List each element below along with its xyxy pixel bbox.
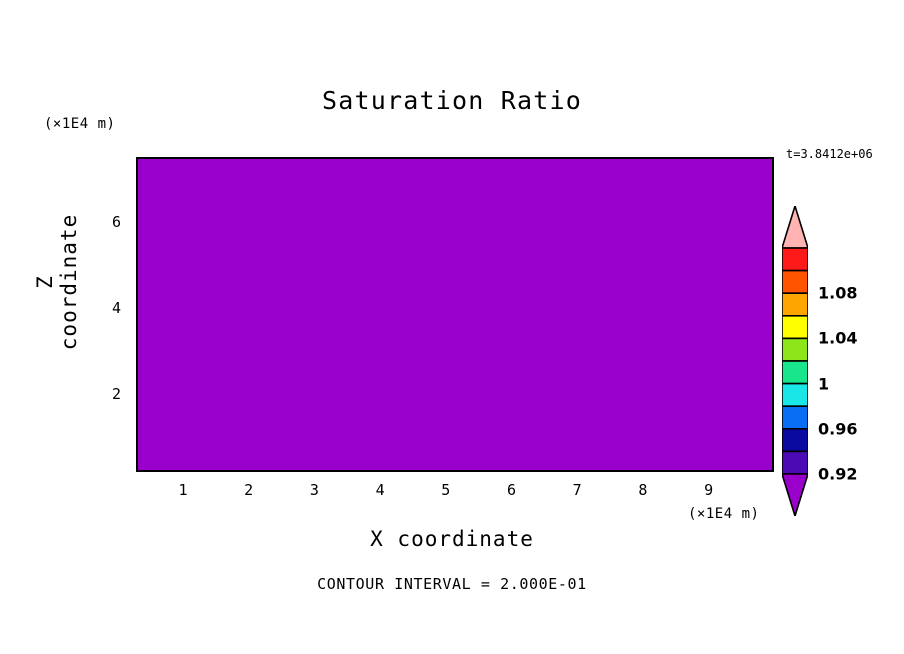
colorbar xyxy=(782,206,808,516)
x-tick-label: 8 xyxy=(638,481,647,499)
colorbar-tick-label: 0.92 xyxy=(818,465,857,484)
x-tick-label: 5 xyxy=(441,481,450,499)
colorbar-tick-label: 1.08 xyxy=(818,284,857,303)
contour-interval-note: CONTOUR INTERVAL = 2.000E-01 xyxy=(0,575,904,593)
z-axis-title: Z coordinate xyxy=(33,202,81,362)
colorbar-band xyxy=(782,429,808,452)
page-title: Saturation Ratio xyxy=(0,86,904,115)
x-tick-label: 6 xyxy=(507,481,516,499)
colorbar-band xyxy=(782,361,808,384)
figure-canvas: Saturation Ratio (×1E4 m) t=3.8412e+06 1… xyxy=(0,0,904,654)
x-tick-label: 3 xyxy=(310,481,319,499)
x-tick-label: 4 xyxy=(376,481,385,499)
colorbar-tick-label: 1.04 xyxy=(818,329,857,348)
colorbar-band xyxy=(782,293,808,316)
colorbar-band xyxy=(782,248,808,271)
z-units-label: (×1E4 m) xyxy=(44,116,115,132)
z-tick-label: 2 xyxy=(112,385,121,403)
colorbar-band xyxy=(782,316,808,339)
contour-field xyxy=(138,159,772,470)
colorbar-band xyxy=(782,451,808,474)
colorbar-band xyxy=(782,384,808,407)
colorbar-band xyxy=(782,271,808,294)
colorbar-top-arrow xyxy=(782,206,808,248)
x-tick-label: 1 xyxy=(178,481,187,499)
colorbar-band xyxy=(782,406,808,429)
colorbar-tick-label: 1 xyxy=(818,374,829,393)
z-tick-label: 6 xyxy=(112,213,121,231)
x-tick-label: 9 xyxy=(704,481,713,499)
x-units-label: (×1E4 m) xyxy=(688,506,759,522)
timestamp-label: t=3.8412e+06 xyxy=(786,147,873,161)
z-tick-label: 4 xyxy=(112,299,121,317)
x-tick-label: 2 xyxy=(244,481,253,499)
colorbar-band xyxy=(782,338,808,361)
x-tick-label: 7 xyxy=(573,481,582,499)
colorbar-tick-label: 0.96 xyxy=(818,419,857,438)
colorbar-bottom-arrow xyxy=(782,474,808,516)
contour-plot-area xyxy=(136,157,774,472)
x-axis-title: X coordinate xyxy=(0,527,904,551)
